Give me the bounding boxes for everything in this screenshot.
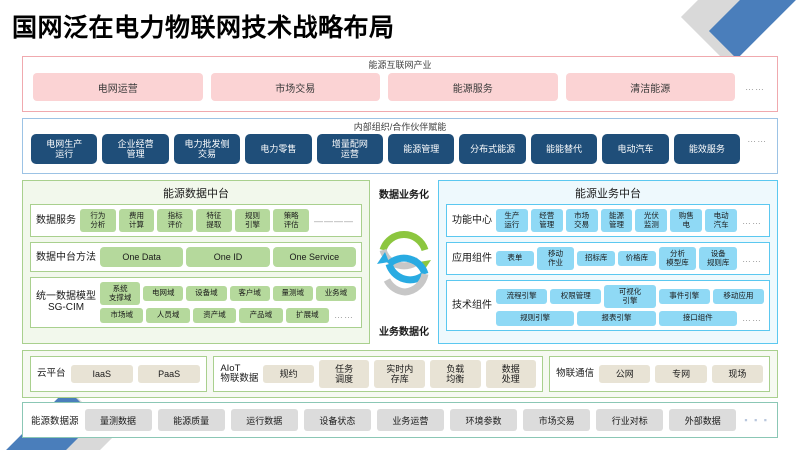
platform-tag-group: 系统支撑域电网域设备域客户域量测域业务域市场域人员域资产域产品域扩展域…… (100, 282, 356, 323)
platform-group-item[interactable]: PaaS (138, 365, 200, 383)
platform-tag[interactable]: 价格库 (618, 251, 656, 266)
platform-tag[interactable]: 权限管理 (550, 289, 601, 304)
energy-data-platform-title: 能源数据中台 (23, 181, 369, 204)
enablement-chip[interactable]: 电动汽车 (602, 134, 668, 164)
platform-section: 功能中心生产运行经营管理市场交易能源管理光伏监测购售电电动汽车…… (446, 204, 770, 237)
platform-tag[interactable]: 系统支撑域 (100, 282, 140, 305)
data-source-chip[interactable]: 能源质量 (158, 409, 225, 431)
platform-tag[interactable]: 人员域 (146, 308, 189, 323)
platform-section-label: 功能中心 (452, 215, 496, 226)
platform-section: 技术组件流程引擎权限管理可视化引擎事件引擎移动应用规则引擎报表引擎接口组件…… (446, 280, 770, 331)
energy-business-platform-title: 能源业务中台 (439, 181, 777, 204)
platform-tag[interactable]: 行为分析 (80, 209, 116, 232)
transformation-cycle: 数据业务化 业务数据化 (372, 186, 436, 338)
platform-group-item[interactable]: 专网 (655, 365, 706, 383)
enablement-chip[interactable]: 分布式能源 (459, 134, 525, 164)
platform-section: 数据中台方法One DataOne IDOne Service (30, 242, 362, 272)
slide-canvas: 国网泛在电力物联网技术战略布局 能源互联网产业 电网运营市场交易能源服务清洁能源… (0, 0, 800, 450)
platform-section-label: 技术组件 (452, 300, 496, 311)
enablement-chip[interactable]: 能能替代 (531, 134, 597, 164)
enablement-band-header: 内部组织/合作伙伴赋能 (23, 119, 777, 133)
platform-tag[interactable]: 事件引擎 (659, 289, 710, 304)
data-source-label: 能源数据源 (31, 413, 79, 427)
platform-tag[interactable]: 招标库 (577, 251, 615, 266)
platform-group-item[interactable]: 数据处理 (486, 360, 537, 388)
enablement-chip[interactable]: 电力批发侧交易 (174, 134, 240, 164)
platform-band: 云平台IaaSPaaSAIoT物联数据规约任务调度实时内存库负载均衡数据处理物联… (22, 350, 778, 398)
platform-section: 应用组件表单移动作业招标库价格库分析模型库设备规则库…… (446, 242, 770, 275)
platform-tag[interactable]: 电网域 (143, 286, 183, 301)
platform-tag[interactable]: 接口组件 (659, 311, 737, 326)
platform-tag[interactable]: 市场交易 (566, 209, 598, 232)
platform-tag[interactable]: 特征提取 (196, 209, 232, 232)
platform-tag[interactable]: 市场域 (100, 308, 143, 323)
data-source-band: 能源数据源 量测数据能源质量运行数据设备状态业务运营环境参数市场交易行业对标外部… (22, 402, 778, 438)
data-source-chip[interactable]: 行业对标 (596, 409, 663, 431)
platform-tag[interactable]: 扩展域 (286, 308, 329, 323)
platform-group: 物联通信公网专网现场 (549, 356, 770, 392)
platform-tag[interactable]: 移动作业 (537, 247, 575, 270)
enablement-chip[interactable]: 电力零售 (245, 134, 311, 164)
platform-tag[interactable]: 产品域 (239, 308, 282, 323)
platform-tag-group: One DataOne IDOne Service (100, 247, 356, 267)
platform-tag[interactable]: 生产运行 (496, 209, 528, 232)
platform-tag[interactable]: 资产域 (193, 308, 236, 323)
platform-tag[interactable]: 规则引擎 (496, 311, 574, 326)
platform-tag[interactable]: 经营管理 (531, 209, 563, 232)
platform-group-label: 物联通信 (556, 369, 594, 380)
platform-ellipsis: …… (332, 310, 356, 320)
platform-ellipsis: …… (740, 216, 764, 226)
platform-tag[interactable]: 能源管理 (601, 209, 633, 232)
platform-tag-group: 流程引擎权限管理可视化引擎事件引擎移动应用规则引擎报表引擎接口组件…… (496, 285, 764, 326)
platform-tag[interactable]: 策略评估 (273, 209, 309, 232)
energy-business-platform-panel: 能源业务中台 功能中心生产运行经营管理市场交易能源管理光伏监测购售电电动汽车……… (438, 180, 778, 344)
platform-tag[interactable]: 规则引擎 (235, 209, 271, 232)
platform-group-item[interactable]: 负载均衡 (430, 360, 481, 388)
energy-business-platform-sections: 功能中心生产运行经营管理市场交易能源管理光伏监测购售电电动汽车……应用组件表单移… (439, 204, 777, 331)
platform-group: AIoT物联数据规约任务调度实时内存库负载均衡数据处理 (213, 356, 543, 392)
enablement-chip[interactable]: 能源管理 (388, 134, 454, 164)
platform-ellipsis: …… (740, 313, 764, 323)
platform-tag[interactable]: 电动汽车 (705, 209, 737, 232)
data-source-chip[interactable]: 运行数据 (231, 409, 298, 431)
platform-group-label: AIoT物联数据 (220, 364, 258, 385)
platform-tag-group: 生产运行经营管理市场交易能源管理光伏监测购售电电动汽车…… (496, 209, 764, 232)
data-source-dots: ▪ ▪ ▪ (742, 415, 769, 425)
data-source-chip[interactable]: 业务运营 (377, 409, 444, 431)
platform-wide-tag[interactable]: One Service (273, 247, 356, 267)
page-title: 国网泛在电力物联网技术战略布局 (12, 8, 395, 44)
platform-tag[interactable]: 光伏监测 (635, 209, 667, 232)
cycle-arrows-icon (375, 220, 433, 304)
platform-tag[interactable]: 设备域 (186, 286, 226, 301)
enablement-chip[interactable]: 企业经营管理 (102, 134, 168, 164)
platform-section-label: 数据服务 (36, 215, 80, 226)
enablement-chip-list: 电网生产运行企业经营管理电力批发侧交易电力零售增量配网运营能源管理分布式能源能能… (23, 134, 777, 164)
data-source-chip[interactable]: 外部数据 (669, 409, 736, 431)
enablement-chip[interactable]: 电网生产运行 (31, 134, 97, 164)
platform-tag[interactable]: 费用计算 (119, 209, 155, 232)
data-source-chip[interactable]: 环境参数 (450, 409, 517, 431)
industry-ellipsis: …… (743, 82, 767, 92)
platform-group-label: 云平台 (37, 369, 66, 380)
data-source-chip[interactable]: 设备状态 (304, 409, 371, 431)
platform-tag[interactable]: 客户域 (230, 286, 270, 301)
platform-section-label: 数据中台方法 (36, 252, 100, 263)
platform-tag[interactable]: 分析模型库 (659, 247, 697, 270)
platform-tag[interactable]: 购售电 (670, 209, 702, 232)
platform-tag[interactable]: 流程引擎 (496, 289, 547, 304)
platform-wide-tag[interactable]: One Data (100, 247, 183, 267)
platform-tag[interactable]: 报表引擎 (577, 311, 655, 326)
platform-tag[interactable]: 移动应用 (713, 289, 764, 304)
data-source-chip-list: 量测数据能源质量运行数据设备状态业务运营环境参数市场交易行业对标外部数据 (85, 409, 737, 431)
platform-group-item[interactable]: IaaS (71, 365, 133, 383)
platform-wide-tag[interactable]: One ID (186, 247, 269, 267)
cycle-bottom-label: 业务数据化 (379, 323, 429, 338)
platform-group-item[interactable]: 现场 (712, 365, 763, 383)
platform-group-item[interactable]: 任务调度 (319, 360, 370, 388)
cycle-top-label: 数据业务化 (379, 186, 429, 201)
energy-data-platform-sections: 数据服务行为分析费用计算指标评价特征提取规则引擎策略评估————数据中台方法On… (23, 204, 369, 328)
enablement-chip[interactable]: 增量配网运营 (317, 134, 383, 164)
enablement-chip[interactable]: 能效服务 (674, 134, 740, 164)
platform-tag[interactable]: 量测域 (273, 286, 313, 301)
platform-group-item[interactable]: 规约 (263, 365, 314, 383)
industry-chip[interactable]: 清洁能源 (566, 73, 736, 101)
platform-ellipsis: …… (740, 254, 764, 264)
platform-tag[interactable]: 可视化引擎 (604, 285, 655, 308)
platform-section: 统一数据模型SG-CIM系统支撑域电网域设备域客户域量测域业务域市场域人员域资产… (30, 277, 362, 328)
industry-chip[interactable]: 市场交易 (211, 73, 381, 101)
platform-group-item[interactable]: 公网 (599, 365, 650, 383)
industry-chip-list: 电网运营市场交易能源服务清洁能源…… (23, 73, 777, 101)
enablement-ellipsis: …… (745, 134, 769, 164)
energy-data-platform-panel: 能源数据中台 数据服务行为分析费用计算指标评价特征提取规则引擎策略评估————数… (22, 180, 370, 344)
platform-section: 数据服务行为分析费用计算指标评价特征提取规则引擎策略评估———— (30, 204, 362, 237)
industry-band-header: 能源互联网产业 (23, 57, 777, 71)
platform-group: 云平台IaaSPaaS (30, 356, 207, 392)
platform-group-item[interactable]: 实时内存库 (374, 360, 425, 388)
industry-band: 能源互联网产业 电网运营市场交易能源服务清洁能源…… (22, 56, 778, 112)
platform-section-label: 统一数据模型SG-CIM (36, 291, 100, 313)
enablement-band: 内部组织/合作伙伴赋能 电网生产运行企业经营管理电力批发侧交易电力零售增量配网运… (22, 118, 778, 174)
data-source-chip[interactable]: 市场交易 (523, 409, 590, 431)
platform-tag-group: 表单移动作业招标库价格库分析模型库设备规则库…… (496, 247, 764, 270)
industry-chip[interactable]: 能源服务 (388, 73, 558, 101)
platform-section-label: 应用组件 (452, 253, 496, 264)
platform-ellipsis: ———— (312, 216, 356, 226)
data-source-chip[interactable]: 量测数据 (85, 409, 152, 431)
platform-tag[interactable]: 设备规则库 (699, 247, 737, 270)
industry-chip[interactable]: 电网运营 (33, 73, 203, 101)
platform-tag[interactable]: 指标评价 (157, 209, 193, 232)
platform-tag[interactable]: 业务域 (316, 286, 356, 301)
platform-tag-group: 行为分析费用计算指标评价特征提取规则引擎策略评估———— (80, 209, 356, 232)
platform-tag[interactable]: 表单 (496, 251, 534, 266)
